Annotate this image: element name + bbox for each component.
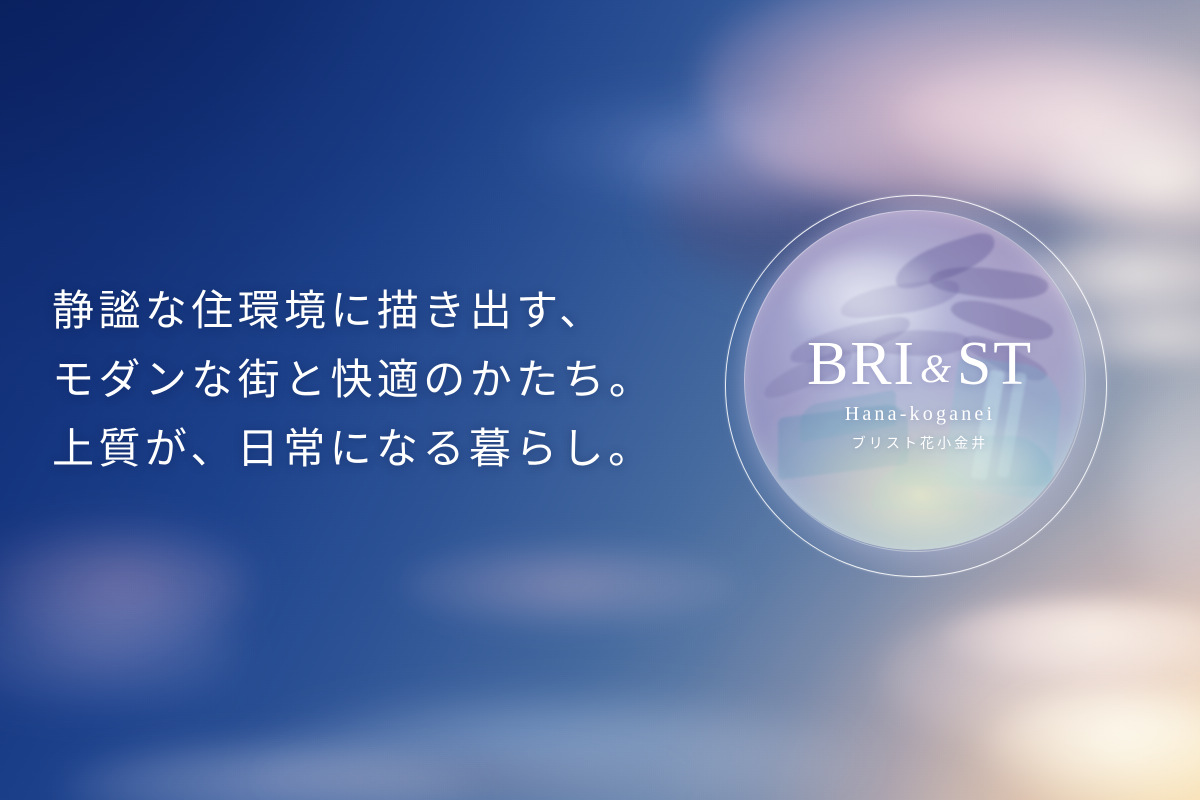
headline-line-2: モダンな街と快適のかたち。 bbox=[52, 347, 655, 416]
cloud-center-wisp bbox=[400, 540, 740, 630]
cloud-bottom-left-pink bbox=[0, 520, 250, 650]
cloud-bottom-left-violet bbox=[0, 590, 240, 710]
cloud-bottom-right-glow bbox=[980, 690, 1200, 800]
hero-banner: BRI&ST Hana-koganei ブリスト花小金井 静謐な住環境に描き出す… bbox=[0, 0, 1200, 800]
headline-line-3: 上質が、日常になる暮らし。 bbox=[52, 416, 655, 485]
brand-logo-mark: BRI&ST Hana-koganei ブリスト花小金井 bbox=[720, 188, 1120, 588]
logo-outer-ring bbox=[725, 195, 1107, 577]
cloud-bottom-left-haze bbox=[60, 745, 480, 800]
cloud-bottom-right-lit bbox=[940, 600, 1200, 680]
cloud-right-edge bbox=[1120, 360, 1200, 620]
cloud-upper-mid bbox=[520, 90, 820, 200]
cloud-top-right-salmon bbox=[700, 0, 1200, 210]
cloud-bottom-dark-streak bbox=[260, 748, 680, 800]
cloud-bottom-right-bank bbox=[880, 590, 1200, 760]
cloud-bottom-center-haze bbox=[250, 700, 870, 800]
headline-line-1: 静謐な住環境に描き出す、 bbox=[52, 278, 655, 347]
cloud-top-right-peach bbox=[900, 40, 1200, 210]
hero-headline: 静謐な住環境に描き出す、 モダンな街と快適のかたち。 上質が、日常になる暮らし。 bbox=[52, 278, 655, 485]
